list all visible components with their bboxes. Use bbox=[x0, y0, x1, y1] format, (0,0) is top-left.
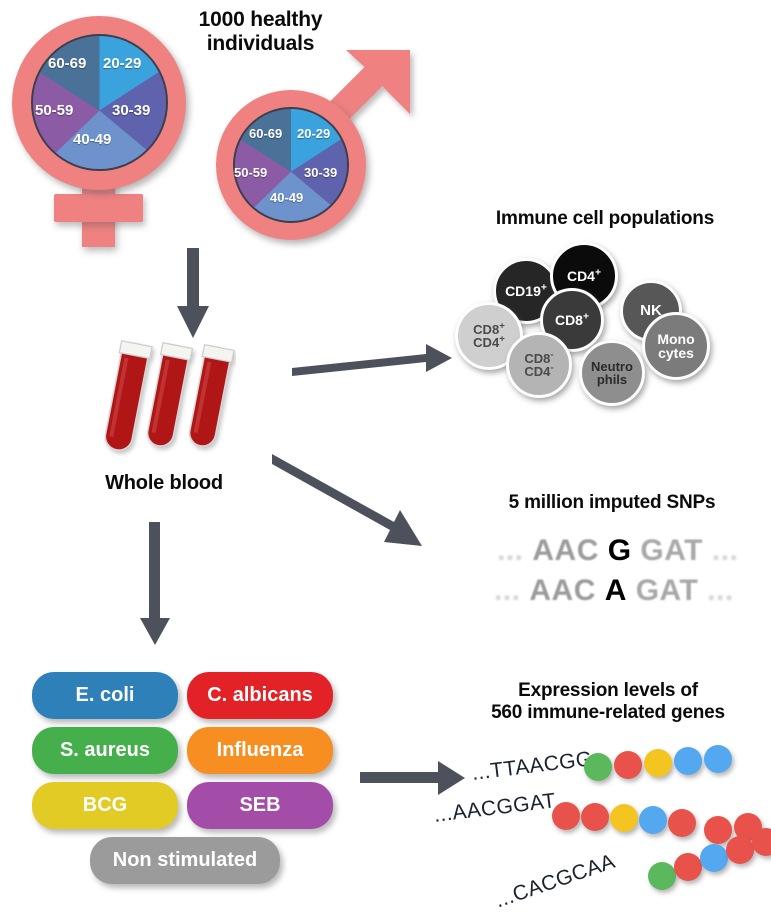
dna-dot bbox=[668, 809, 696, 837]
dna-dot bbox=[700, 844, 728, 872]
snp-prefix: ... bbox=[497, 534, 524, 568]
snp-sequence-row-2: ... AAC A GAT ... bbox=[494, 574, 734, 608]
snp-sequence-row-1: ... AAC G GAT ... bbox=[497, 534, 738, 568]
figure-canvas: 1000 healthy individuals 20-29 30-39 40-… bbox=[0, 0, 771, 922]
snp-right-bases: GAT bbox=[640, 534, 703, 568]
female-crossbar bbox=[54, 194, 143, 222]
dna-sequence-1: ...TTAACGG bbox=[471, 747, 594, 786]
stimulation-label: S. aureus bbox=[60, 739, 150, 762]
expression-title-line2: 560 immune-related genes bbox=[452, 702, 764, 724]
dna-dot bbox=[704, 745, 732, 773]
female-pie-label-40-49: 40-49 bbox=[73, 131, 111, 148]
male-pie-label-50-59: 50-59 bbox=[234, 165, 267, 180]
snp-right-bases: GAT bbox=[636, 574, 699, 608]
expression-title: Expression levels of 560 immune-related … bbox=[452, 680, 764, 724]
male-pie-label-60-69: 60-69 bbox=[249, 126, 282, 141]
whole-blood-label: Whole blood bbox=[84, 472, 244, 495]
immune-cell-cd8cd4-negative: CD8-CD4- bbox=[506, 332, 572, 398]
immune-cell-cluster: CD19+ CD4+ NK CD8+CD4+ CD8+ Monocytes CD… bbox=[452, 240, 752, 410]
female-pie-label-50-59: 50-59 bbox=[35, 102, 73, 119]
male-pie-label-40-49: 40-49 bbox=[270, 190, 303, 205]
stimulation-panel: E. coli C. albicans S. aureus Influenza … bbox=[32, 672, 332, 897]
cd4-label: CD4+ bbox=[567, 269, 601, 283]
dna-dot bbox=[674, 747, 702, 775]
cd8cd4-positive-label: CD8+CD4+ bbox=[473, 323, 505, 350]
female-pie-label-20-29: 20-29 bbox=[103, 55, 141, 72]
male-pie-label-30-39: 30-39 bbox=[304, 165, 337, 180]
snp-left-bases: AAC bbox=[532, 534, 599, 568]
stimulation-label: Non stimulated bbox=[113, 849, 257, 872]
stimulation-pill-s-aureus[interactable]: S. aureus bbox=[32, 727, 178, 774]
snp-variant-base: G bbox=[608, 534, 632, 568]
female-symbol: 20-29 30-39 40-49 50-59 60-69 bbox=[8, 12, 193, 247]
stimulation-label: Influenza bbox=[217, 739, 304, 762]
female-pie-label-60-69: 60-69 bbox=[48, 55, 86, 72]
stimulation-label: E. coli bbox=[76, 684, 135, 707]
neutrophils-label: Neutrophils bbox=[591, 360, 633, 387]
dna-dot bbox=[610, 804, 638, 832]
arrow-cohort-to-blood bbox=[172, 248, 214, 340]
snp-prefix: ... bbox=[494, 574, 521, 608]
male-symbol: 20-29 30-39 40-49 50-59 60-69 bbox=[204, 42, 419, 242]
arrow-blood-to-immune bbox=[292, 330, 457, 385]
stimulation-label: C. albicans bbox=[207, 684, 313, 707]
snp-suffix: ... bbox=[707, 574, 734, 608]
dna-dot bbox=[752, 828, 771, 856]
snp-suffix: ... bbox=[712, 534, 739, 568]
monocytes-label: Monocytes bbox=[657, 332, 694, 361]
arrow-blood-to-stimulations bbox=[135, 522, 175, 647]
stimulation-pill-influenza[interactable]: Influenza bbox=[187, 727, 333, 774]
immune-cell-neutrophils: Neutrophils bbox=[579, 340, 645, 406]
snp-left-bases: AAC bbox=[529, 574, 596, 608]
dna-dot bbox=[552, 802, 580, 830]
cd8-label: CD8+ bbox=[555, 313, 589, 327]
dna-strands-group: ...TTAACGG ...AACGGAT ...CACGCAA bbox=[462, 740, 771, 915]
stimulation-label: BCG bbox=[83, 794, 127, 817]
dna-dot bbox=[614, 751, 642, 779]
dna-dot bbox=[726, 836, 754, 864]
dna-strand-3: ...CACGCAA bbox=[462, 840, 771, 915]
dna-dot bbox=[644, 749, 672, 777]
cd8cd4-negative-label: CD8-CD4- bbox=[524, 352, 553, 379]
arrow-stimulations-to-expression bbox=[360, 758, 470, 798]
immune-cell-title: Immune cell populations bbox=[452, 208, 758, 230]
dna-dot bbox=[639, 806, 667, 834]
blood-tubes bbox=[96, 340, 236, 470]
cohort-title-line1: 1000 healthy bbox=[178, 8, 343, 32]
dna-dot bbox=[648, 862, 676, 890]
expression-title-line1: Expression levels of bbox=[452, 680, 764, 702]
stimulation-pill-non-stimulated[interactable]: Non stimulated bbox=[90, 837, 280, 884]
male-pie-label-20-29: 20-29 bbox=[297, 126, 330, 141]
dna-dot bbox=[584, 753, 612, 781]
cd19-label: CD19+ bbox=[505, 284, 547, 298]
female-pie-label-30-39: 30-39 bbox=[112, 102, 150, 119]
snp-variant-base: A bbox=[605, 574, 627, 608]
stimulation-pill-c-albicans[interactable]: C. albicans bbox=[187, 672, 333, 719]
dna-dot bbox=[674, 853, 702, 881]
stimulation-pill-bcg[interactable]: BCG bbox=[32, 782, 178, 829]
immune-cell-monocytes: Monocytes bbox=[642, 312, 710, 380]
dna-sequence-3: ...CACGCAA bbox=[492, 850, 618, 914]
snps-title: 5 million imputed SNPs bbox=[462, 492, 762, 514]
dna-dot bbox=[581, 803, 609, 831]
stimulation-pill-e-coli[interactable]: E. coli bbox=[32, 672, 178, 719]
stimulation-pill-seb[interactable]: SEB bbox=[187, 782, 333, 829]
stimulation-label: SEB bbox=[239, 794, 280, 817]
arrow-blood-to-snps bbox=[272, 450, 447, 555]
